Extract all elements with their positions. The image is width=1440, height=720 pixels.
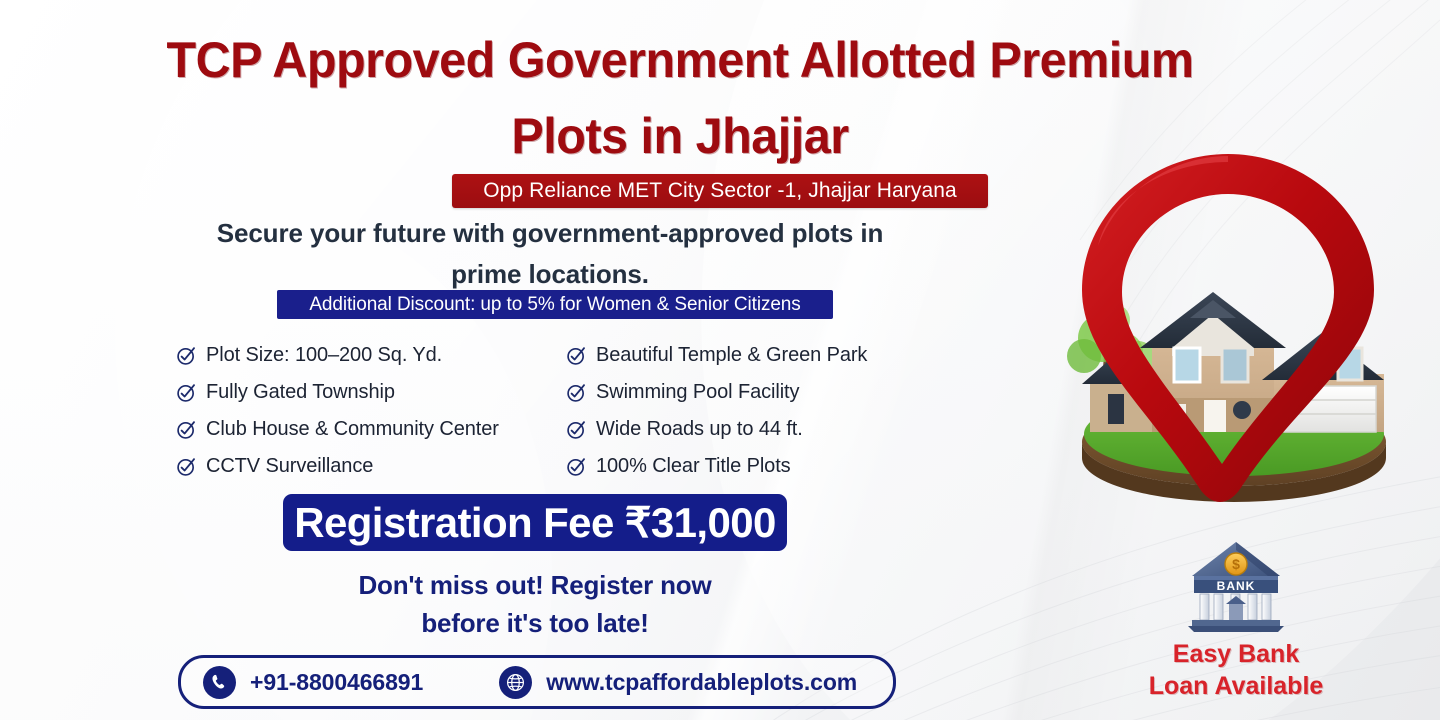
feature-item: CCTV Surveillance [176, 448, 566, 485]
features-list: Plot Size: 100–200 Sq. Yd. Beautiful Tem… [176, 337, 966, 485]
check-circle-icon [176, 419, 197, 440]
registration-fee-badge: Registration Fee ₹31,000 [283, 494, 787, 551]
promotional-banner: TCP Approved Government Allotted Premium… [0, 0, 1440, 720]
contact-bar[interactable]: +91-8800466891 www.tcpaffordableplots.co… [178, 655, 896, 709]
check-circle-icon [566, 456, 587, 477]
check-circle-icon [566, 382, 587, 403]
location-strip: Opp Reliance MET City Sector -1, Jhajjar… [452, 174, 988, 208]
cta-line-1: Don't miss out! Register now [358, 570, 711, 600]
hero-illustration [1022, 142, 1434, 520]
svg-text:$: $ [1232, 556, 1240, 572]
feature-item: Plot Size: 100–200 Sq. Yd. [176, 337, 566, 374]
feature-item: Wide Roads up to 44 ft. [566, 411, 966, 448]
feature-label: Wide Roads up to 44 ft. [596, 418, 803, 441]
cta-line-2: before it's too late! [285, 604, 785, 642]
feature-item: Swimming Pool Facility [566, 374, 966, 411]
globe-icon [499, 666, 532, 699]
feature-item: Beautiful Temple & Green Park [566, 337, 966, 374]
phone-icon [203, 666, 236, 699]
feature-label: Beautiful Temple & Green Park [596, 344, 867, 367]
check-circle-icon [176, 456, 197, 477]
bank-loan-text: Easy Bank Loan Available [1106, 638, 1366, 702]
website-contact[interactable]: www.tcpaffordableplots.com [499, 666, 857, 699]
svg-text:BANK: BANK [1217, 579, 1256, 593]
feature-label: CCTV Surveillance [206, 455, 373, 478]
phone-number: +91-8800466891 [250, 669, 423, 696]
bank-building-icon: $ BANK [1184, 536, 1288, 632]
feature-label: Club House & Community Center [206, 418, 499, 441]
discount-badge: Additional Discount: up to 5% for Women … [277, 290, 833, 319]
feature-label: 100% Clear Title Plots [596, 455, 791, 478]
bank-icon-wrapper: $ BANK [1106, 536, 1366, 632]
feature-label: Swimming Pool Facility [596, 381, 799, 404]
check-circle-icon [566, 419, 587, 440]
feature-label: Fully Gated Township [206, 381, 395, 404]
bank-loan-block: $ BANK [1106, 536, 1366, 702]
bank-text-line-2: Loan Available [1106, 670, 1366, 702]
bank-text-line-1: Easy Bank [1173, 640, 1299, 668]
location-pin-icon [1022, 142, 1434, 520]
website-url: www.tcpaffordableplots.com [546, 669, 857, 696]
feature-item: Fully Gated Township [176, 374, 566, 411]
tagline: Secure your future with government-appro… [180, 213, 920, 295]
check-circle-icon [176, 382, 197, 403]
feature-item: 100% Clear Title Plots [566, 448, 966, 485]
headline-line-1: TCP Approved Government Allotted Premium [166, 32, 1193, 88]
feature-label: Plot Size: 100–200 Sq. Yd. [206, 344, 442, 367]
phone-contact[interactable]: +91-8800466891 [203, 666, 423, 699]
feature-item: Club House & Community Center [176, 411, 566, 448]
check-circle-icon [176, 345, 197, 366]
call-to-action-text: Don't miss out! Register now before it's… [285, 566, 785, 642]
check-circle-icon [566, 345, 587, 366]
